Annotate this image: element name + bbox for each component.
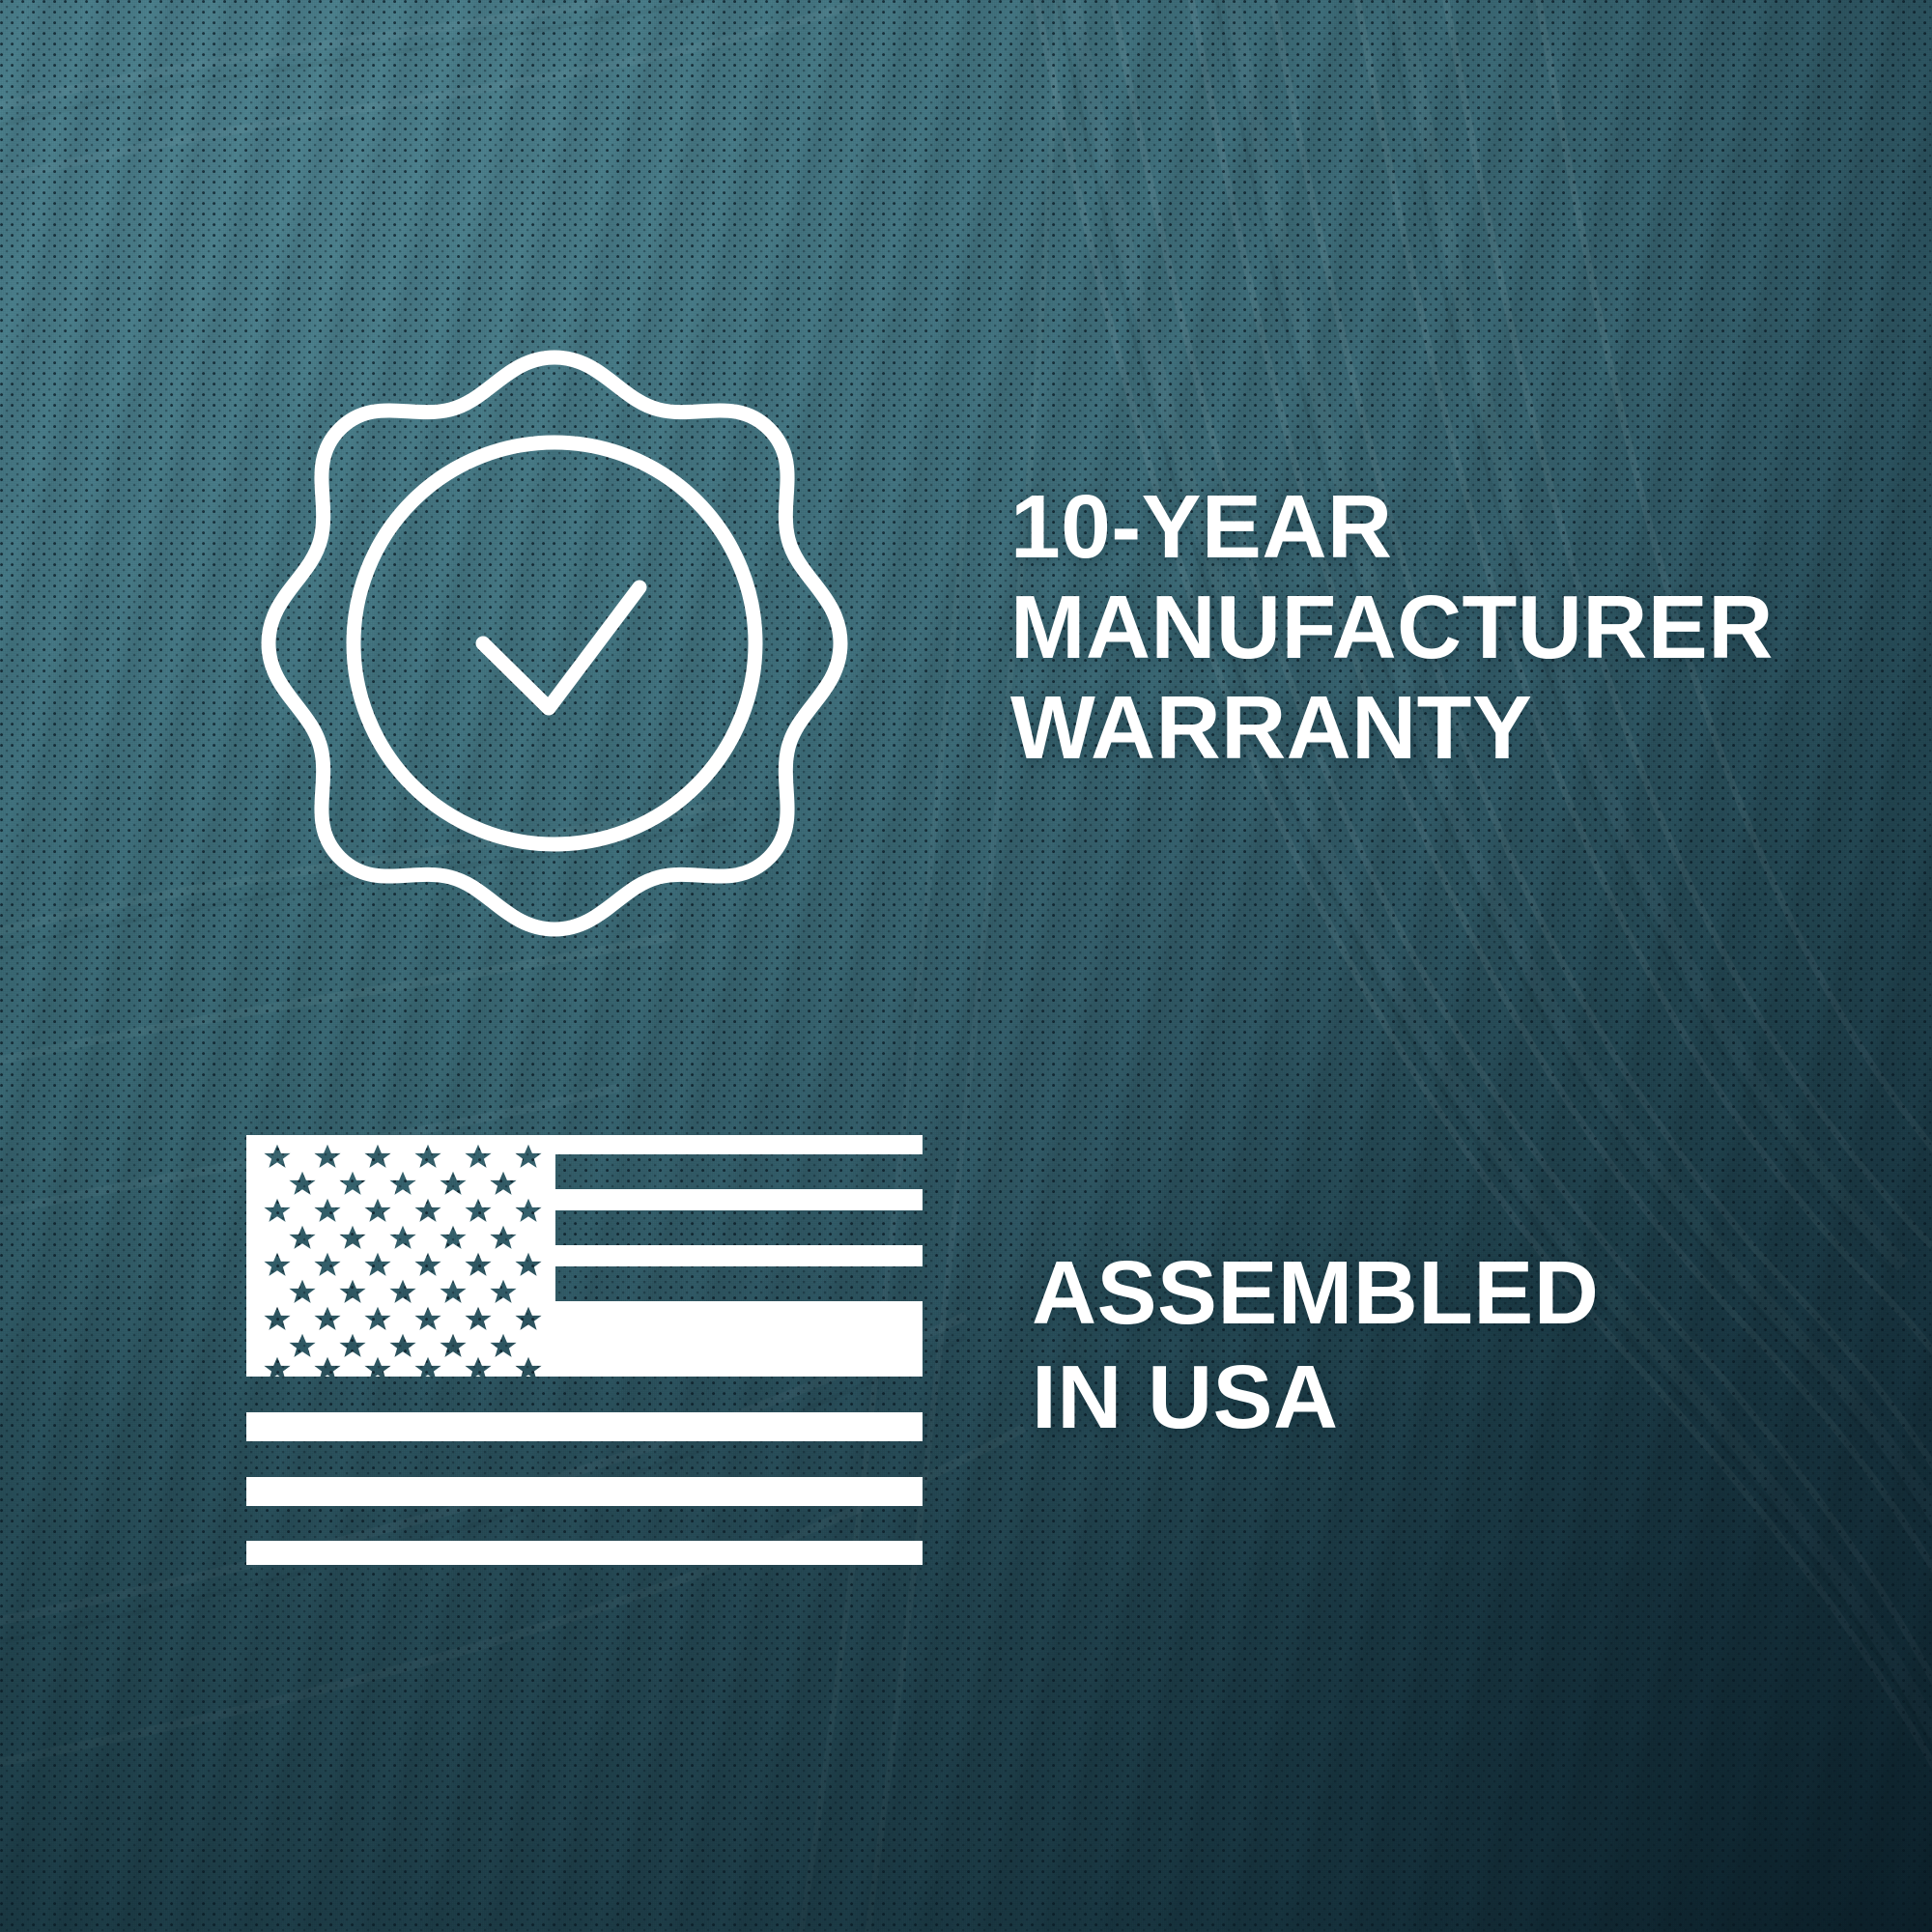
assembled-headline: ASSEMBLED IN USA (1032, 1240, 1599, 1449)
promo-panel: 10-YEAR MANUFACTURER WARRANTY (0, 0, 1932, 1932)
usa-flag-icon (246, 1135, 923, 1565)
feature-grid: 10-YEAR MANUFACTURER WARRANTY (0, 0, 1932, 1932)
warranty-headline: 10-YEAR MANUFACTURER WARRANTY (1010, 476, 1774, 778)
warranty-seal-check-badge-icon (241, 336, 867, 962)
